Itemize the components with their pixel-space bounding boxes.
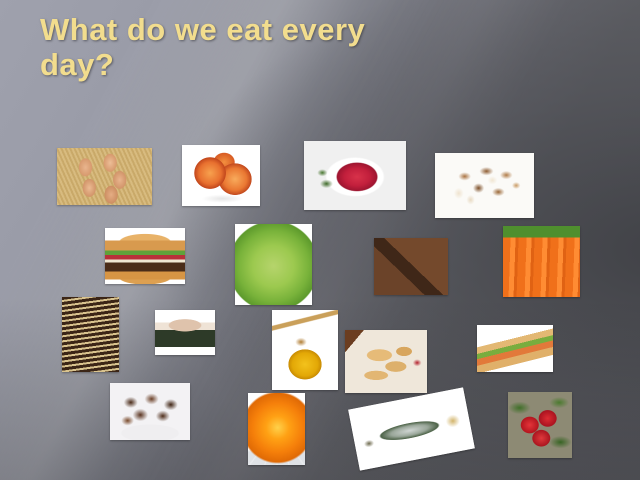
food-photo-carrots: carrots: [503, 226, 580, 297]
food-image-cake: [62, 297, 119, 372]
food-image-carrots: [503, 226, 580, 297]
food-image-sweets: [110, 383, 190, 440]
food-image-yoghurt: [155, 310, 215, 355]
food-image-eggs: [57, 148, 152, 205]
food-photo-peaches: peaches: [182, 145, 260, 206]
presentation-slide: What do we eat every day? eggspeachesbee…: [0, 0, 640, 480]
food-image-bread: [345, 330, 427, 393]
food-photo-yoghurt: yoghurt: [155, 310, 215, 355]
food-image-chocolate: [374, 238, 448, 295]
food-photo-hotdog: hot dog: [477, 325, 553, 372]
food-photo-meat: beef steak: [304, 141, 406, 210]
food-photo-cabbage: cabbage: [235, 224, 312, 305]
food-photo-honey: honey: [272, 310, 338, 390]
food-photo-sweets: chocolate sweets: [110, 383, 190, 440]
food-image-honey: [272, 310, 338, 390]
food-photo-chocolate: chocolate bar: [374, 238, 448, 295]
slide-title: What do we eat every day?: [40, 12, 540, 83]
food-photo-cake: layer cake: [62, 297, 119, 372]
food-image-apples: [508, 392, 572, 458]
food-photo-nuts: nuts: [435, 153, 534, 218]
food-image-peaches: [182, 145, 260, 206]
food-image-hotdog: [477, 325, 553, 372]
food-image-hamburger: [105, 228, 185, 284]
food-photo-apples: apples: [508, 392, 572, 458]
food-photo-eggs: eggs: [57, 148, 152, 205]
food-photo-hamburger: hamburger: [105, 228, 185, 284]
food-image-meat: [304, 141, 406, 210]
food-image-nuts: [435, 153, 534, 218]
food-image-orange: [248, 393, 305, 465]
food-photo-orange: orange: [248, 393, 305, 465]
food-photo-bread: bread rolls: [345, 330, 427, 393]
food-image-cabbage: [235, 224, 312, 305]
